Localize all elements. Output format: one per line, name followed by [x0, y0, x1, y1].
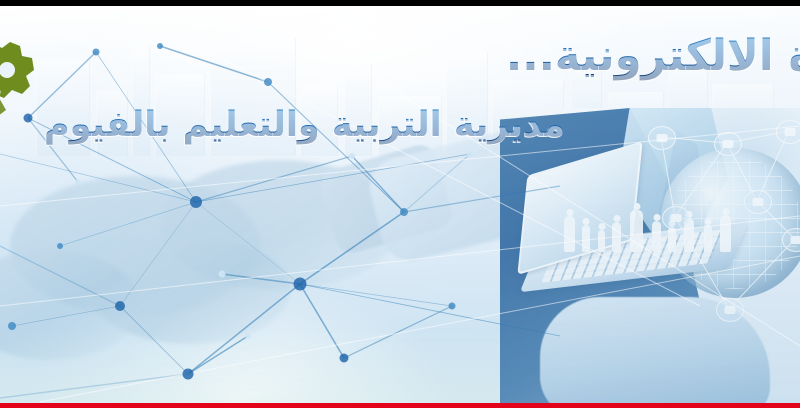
gear-icon — [0, 36, 48, 132]
bottom-red-rule — [0, 403, 800, 408]
photo-blue-tint — [500, 108, 800, 403]
handshake-photo — [0, 150, 530, 408]
headline-line2: مديرية التربية والتعليم بالفيوم — [44, 100, 565, 150]
headline-line1: ة الالكترونية... — [506, 28, 800, 84]
top-black-rule — [0, 0, 800, 6]
laptop-photo — [500, 108, 800, 403]
banner-image: ة الالكترونية... ة الالكترونية... مديرية… — [0, 0, 800, 408]
